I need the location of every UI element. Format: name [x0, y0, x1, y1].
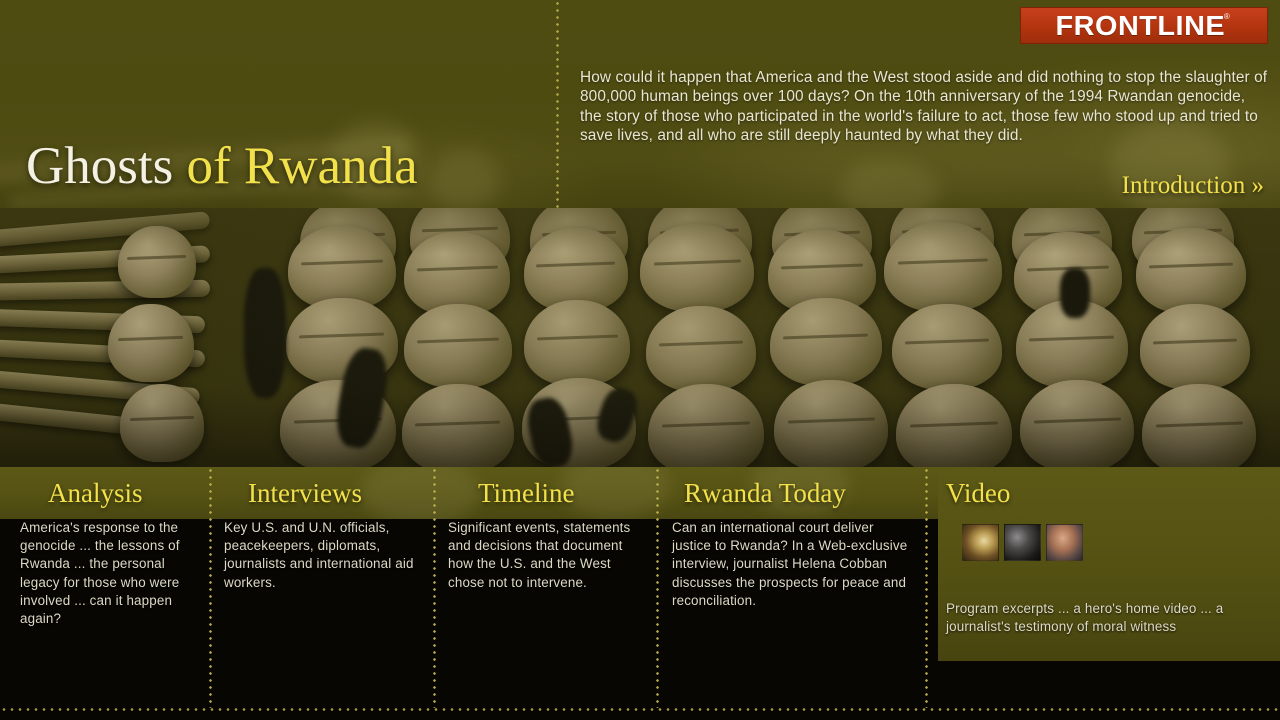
video-thumb-camera-operator-icon[interactable]	[1004, 524, 1041, 561]
skull	[108, 304, 194, 382]
nav-divider-3	[656, 467, 659, 708]
skull	[404, 304, 512, 388]
nav-column-title[interactable]: Analysis	[48, 467, 143, 519]
frontline-logo-text: FRONTLINE	[1056, 10, 1226, 42]
nav-column-description: Key U.S. and U.N. officials, peacekeeper…	[224, 519, 416, 592]
video-thumb-machete-icon[interactable]	[962, 524, 999, 561]
nav-column-description: Program excerpts ... a hero's home video…	[946, 600, 1226, 636]
header-vertical-dotted-divider	[556, 0, 559, 208]
skull	[892, 304, 1002, 390]
nav-column-description: Can an international court deliver justi…	[672, 519, 912, 610]
sidebar-item-timeline[interactable]: Timeline Significant events, statements …	[448, 467, 644, 720]
nav-bottom-dotted-rule	[0, 708, 1280, 711]
frontline-ghosts-of-rwanda-page: FRONTLINE® Ghosts of Rwanda How could it…	[0, 0, 1280, 720]
frontline-logo[interactable]: FRONTLINE®	[1020, 7, 1268, 44]
skull	[1020, 380, 1134, 467]
nav-column-title[interactable]: Video	[946, 467, 1010, 519]
sidebar-item-video[interactable]: Video Program excerpts ... a hero's home…	[938, 467, 1280, 720]
nav-column-description: Significant events, statements and decis…	[448, 519, 634, 592]
skull	[774, 380, 888, 467]
section-navigation: Analysis America's response to the genoc…	[0, 467, 1280, 720]
page-title: Ghosts of Rwanda	[26, 140, 418, 193]
nav-divider-1	[209, 467, 212, 708]
skull-cavity-shadow	[244, 268, 286, 398]
skull	[118, 226, 196, 298]
skull	[770, 298, 882, 386]
nav-column-title[interactable]: Rwanda Today	[684, 467, 846, 519]
skull	[1140, 304, 1250, 390]
skull	[1142, 384, 1256, 467]
skull	[120, 384, 204, 462]
hero-image-skulls	[0, 208, 1280, 467]
header-blurb: How could it happen that America and the…	[580, 68, 1270, 146]
nav-column-title[interactable]: Interviews	[248, 467, 362, 519]
nav-column-description: America's response to the genocide ... t…	[20, 519, 196, 628]
header-ghost-texture	[840, 160, 940, 208]
page-title-primary: Ghosts	[26, 137, 187, 195]
sidebar-item-analysis[interactable]: Analysis America's response to the genoc…	[20, 467, 206, 720]
nav-divider-2	[433, 467, 436, 708]
skull	[884, 222, 1002, 312]
sidebar-item-interviews[interactable]: Interviews Key U.S. and U.N. officials, …	[224, 467, 420, 720]
skull	[640, 224, 754, 312]
nav-column-title[interactable]: Timeline	[478, 467, 575, 519]
skull	[646, 306, 756, 392]
skull	[1136, 228, 1246, 314]
skull	[896, 384, 1012, 467]
video-thumbnail-strip[interactable]	[962, 524, 1083, 561]
nav-divider-4	[925, 467, 928, 708]
skull	[402, 384, 514, 467]
page-header: FRONTLINE® Ghosts of Rwanda How could it…	[0, 0, 1280, 208]
introduction-link[interactable]: Introduction »	[1122, 172, 1264, 200]
sidebar-item-rwanda-today[interactable]: Rwanda Today Can an international court …	[672, 467, 918, 720]
page-title-accent: of Rwanda	[187, 137, 418, 195]
skull-cavity-shadow	[1060, 268, 1090, 318]
video-thumb-man-portrait-icon[interactable]	[1046, 524, 1083, 561]
header-ghost-texture	[430, 150, 500, 208]
skull	[524, 300, 630, 386]
skull	[648, 384, 764, 467]
